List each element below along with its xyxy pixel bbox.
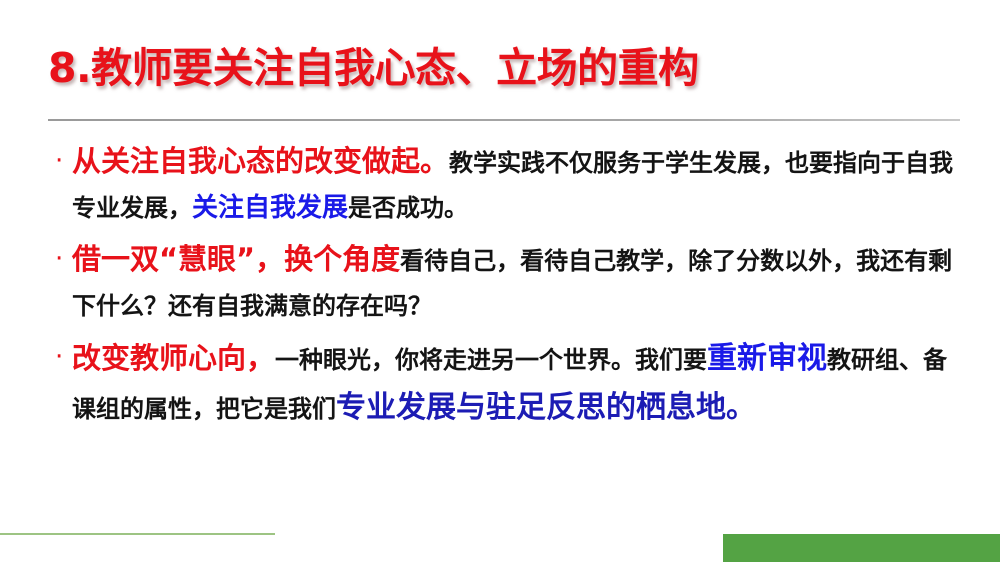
title-block: 8.教师要关注自我心态、立场的重构 <box>48 36 968 110</box>
bullet-3-segment-navy: 专业发展与驻足反思的栖息地。 <box>336 390 756 425</box>
bullet-3-segment-black: 一种眼光，你将走进另一个世界。我们要 <box>275 346 707 374</box>
bullet-dot-icon: · <box>55 336 63 379</box>
title-divider <box>48 119 960 121</box>
bullet-item: ·改变教师心向，一种眼光，你将走进另一个世界。我们要重新审视教研组、备课组的属性… <box>50 336 970 434</box>
bullet-item: ·从关注自我心态的改变做起。教学实践不仅服务于学生发展，也要指向于自我专业发展，… <box>50 140 970 232</box>
bullet-3-segment-red: 改变教师心向， <box>72 341 275 375</box>
bullet-item: ·借一双“慧眼”，换个角度看待自己，看待自己教学，除了分数以外，我还有剩下什么？… <box>50 238 970 330</box>
bullet-1-segment-black-tail: 是否成功。 <box>348 194 468 222</box>
footer-accent-bar <box>723 534 1000 562</box>
page-title: 8.教师要关注自我心态、立场的重构 <box>48 36 968 100</box>
bullet-1-segment-blue: 关注自我发展 <box>192 193 348 223</box>
footer-accent-line <box>0 533 275 535</box>
bullet-dot-icon: · <box>55 140 63 183</box>
slide-canvas: 8.教师要关注自我心态、立场的重构 ·从关注自我心态的改变做起。教学实践不仅服务… <box>0 0 1000 562</box>
bullet-1-segment-red: 从关注自我心态的改变做起。 <box>72 144 449 178</box>
bullet-3-segment-blue: 重新审视 <box>707 341 827 376</box>
bullet-2-segment-red: 借一双“慧眼”，换个角度 <box>72 242 400 276</box>
body-content: ·从关注自我心态的改变做起。教学实践不仅服务于学生发展，也要指向于自我专业发展，… <box>50 140 970 440</box>
bullet-dot-icon: · <box>55 238 63 281</box>
